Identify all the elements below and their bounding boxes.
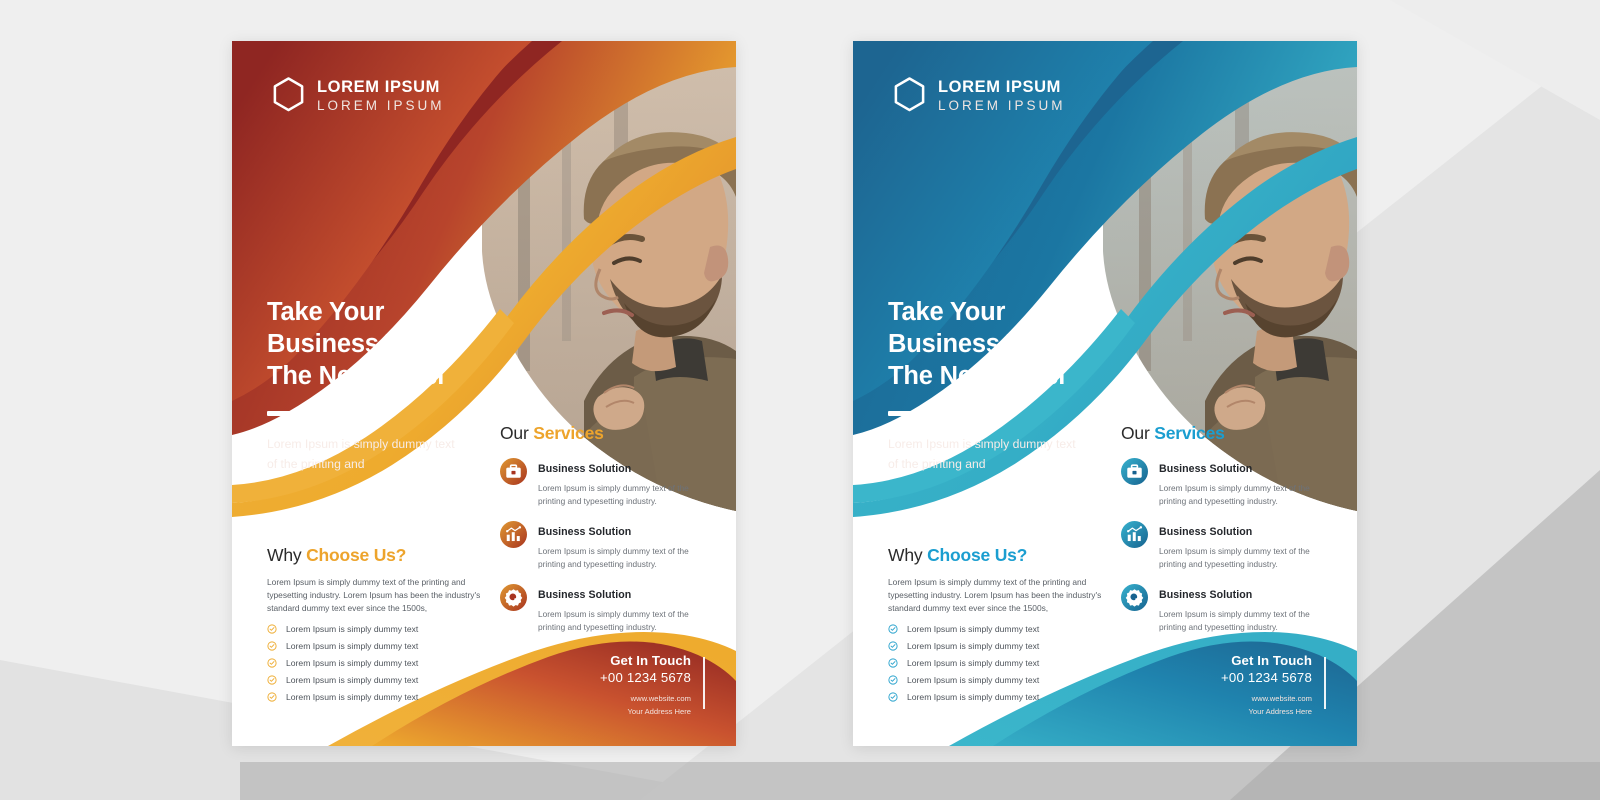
- bar-chart-icon: [1121, 521, 1148, 548]
- hero-subcopy: Lorem Ipsum is simply dummy text of the …: [267, 435, 463, 475]
- contact-divider-bar: [1324, 657, 1326, 709]
- service-heading: Business Solution: [1159, 463, 1252, 475]
- contact-heading: Get In Touch: [600, 653, 691, 668]
- logo-subtitle: LOREM IPSUM: [317, 99, 445, 113]
- service-heading: Business Solution: [1159, 526, 1252, 538]
- service-item[interactable]: Business Solution Lorem Ipsum is simply …: [1121, 458, 1327, 507]
- backdrop-band-bottom-strip: [240, 762, 1600, 800]
- why-title-plain: Why: [888, 545, 927, 565]
- gear-search-icon: [500, 584, 527, 611]
- service-heading: Business Solution: [538, 463, 631, 475]
- services-title-plain: Our: [500, 423, 533, 443]
- logo-title: LOREM IPSUM: [317, 79, 445, 96]
- contact-block: Get In Touch +00 1234 5678 www.website.c…: [600, 653, 705, 718]
- service-item[interactable]: Business Solution Lorem Ipsum is simply …: [500, 584, 706, 633]
- service-text: Lorem Ipsum is simply dummy text of the …: [538, 608, 706, 633]
- service-heading: Business Solution: [538, 589, 631, 601]
- brand-logo[interactable]: LOREM IPSUM LOREM IPSUM: [892, 76, 1066, 115]
- check-circle-icon: [267, 641, 277, 651]
- service-text: Lorem Ipsum is simply dummy text of the …: [1159, 608, 1327, 633]
- check-circle-icon: [267, 675, 277, 685]
- why-title: Why Choose Us?: [267, 545, 483, 566]
- why-bullet-text: Lorem Ipsum is simply dummy text: [907, 675, 1039, 685]
- headline-divider: [888, 411, 940, 416]
- check-circle-icon: [888, 692, 898, 702]
- services-title: Our Services: [1121, 423, 1327, 444]
- service-item[interactable]: Business Solution Lorem Ipsum is simply …: [1121, 521, 1327, 570]
- check-circle-icon: [888, 658, 898, 668]
- contact-address: Your Address Here: [600, 706, 691, 718]
- check-circle-icon: [267, 624, 277, 634]
- bar-chart-icon: [500, 521, 527, 548]
- hero-headline-block: Take Your Business To The Next Level Lor…: [888, 296, 1084, 475]
- why-bullet-list: Lorem Ipsum is simply dummy text Lorem I…: [888, 624, 1104, 702]
- why-bullet-text: Lorem Ipsum is simply dummy text: [286, 641, 418, 651]
- gear-search-icon: [1121, 584, 1148, 611]
- services-title-plain: Our: [1121, 423, 1154, 443]
- headline-line-3: The Next Level: [888, 362, 1065, 390]
- why-bullet-item: Lorem Ipsum is simply dummy text: [888, 692, 1104, 702]
- why-bullet-text: Lorem Ipsum is simply dummy text: [286, 658, 418, 668]
- service-text: Lorem Ipsum is simply dummy text of the …: [538, 545, 706, 570]
- why-bullet-list: Lorem Ipsum is simply dummy text Lorem I…: [267, 624, 483, 702]
- services-title-accent: Services: [533, 423, 603, 443]
- check-circle-icon: [888, 641, 898, 651]
- headline-line-3: The Next Level: [267, 362, 444, 390]
- briefcase-icon: [1121, 458, 1148, 485]
- hero-subcopy: Lorem Ipsum is simply dummy text of the …: [888, 435, 1084, 475]
- headline-line-1: Take Your: [888, 298, 1005, 326]
- why-bullet-text: Lorem Ipsum is simply dummy text: [286, 692, 418, 702]
- service-heading: Business Solution: [538, 526, 631, 538]
- why-bullet-item: Lorem Ipsum is simply dummy text: [888, 641, 1104, 651]
- why-bullet-item: Lorem Ipsum is simply dummy text: [267, 624, 483, 634]
- why-paragraph: Lorem Ipsum is simply dummy text of the …: [267, 576, 483, 615]
- hexagon-outline-icon: [892, 76, 927, 115]
- why-title-accent: Choose Us?: [927, 545, 1027, 565]
- why-title-plain: Why: [267, 545, 306, 565]
- why-title: Why Choose Us?: [888, 545, 1104, 566]
- check-circle-icon: [267, 692, 277, 702]
- why-bullet-item: Lorem Ipsum is simply dummy text: [267, 641, 483, 651]
- why-bullet-text: Lorem Ipsum is simply dummy text: [907, 658, 1039, 668]
- contact-website[interactable]: www.website.com: [1221, 693, 1312, 705]
- why-choose-section: Why Choose Us? Lorem Ipsum is simply dum…: [267, 545, 483, 709]
- services-section: Our Services Business Solution Lorem Ips…: [500, 423, 706, 648]
- services-list: Business Solution Lorem Ipsum is simply …: [1121, 458, 1327, 634]
- headline-line-2: Business To: [267, 330, 415, 358]
- why-title-accent: Choose Us?: [306, 545, 406, 565]
- headline-line-2: Business To: [888, 330, 1036, 358]
- flyer-orange[interactable]: LOREM IPSUM LOREM IPSUM Take Your Busine…: [232, 41, 736, 746]
- flyer-blue[interactable]: LOREM IPSUM LOREM IPSUM Take Your Busine…: [853, 41, 1357, 746]
- check-circle-icon: [267, 658, 277, 668]
- service-item[interactable]: Business Solution Lorem Ipsum is simply …: [1121, 584, 1327, 633]
- why-paragraph: Lorem Ipsum is simply dummy text of the …: [888, 576, 1104, 615]
- why-bullet-text: Lorem Ipsum is simply dummy text: [286, 675, 418, 685]
- why-bullet-text: Lorem Ipsum is simply dummy text: [907, 692, 1039, 702]
- brand-logo[interactable]: LOREM IPSUM LOREM IPSUM: [271, 76, 445, 115]
- services-title: Our Services: [500, 423, 706, 444]
- contact-block: Get In Touch +00 1234 5678 www.website.c…: [1221, 653, 1326, 718]
- service-item[interactable]: Business Solution Lorem Ipsum is simply …: [500, 458, 706, 507]
- logo-subtitle: LOREM IPSUM: [938, 99, 1066, 113]
- why-bullet-item: Lorem Ipsum is simply dummy text: [267, 692, 483, 702]
- services-section: Our Services Business Solution Lorem Ips…: [1121, 423, 1327, 648]
- service-heading: Business Solution: [1159, 589, 1252, 601]
- service-item[interactable]: Business Solution Lorem Ipsum is simply …: [500, 521, 706, 570]
- why-bullet-text: Lorem Ipsum is simply dummy text: [907, 624, 1039, 634]
- service-text: Lorem Ipsum is simply dummy text of the …: [1159, 545, 1327, 570]
- contact-heading: Get In Touch: [1221, 653, 1312, 668]
- check-circle-icon: [888, 675, 898, 685]
- why-bullet-text: Lorem Ipsum is simply dummy text: [907, 641, 1039, 651]
- contact-divider-bar: [703, 657, 705, 709]
- headline-divider: [267, 411, 319, 416]
- hero-headline-block: Take Your Business To The Next Level Lor…: [267, 296, 463, 475]
- hero-headline: Take Your Business To The Next Level: [888, 296, 1084, 392]
- hero-headline: Take Your Business To The Next Level: [267, 296, 463, 392]
- why-bullet-item: Lorem Ipsum is simply dummy text: [888, 624, 1104, 634]
- headline-line-1: Take Your: [267, 298, 384, 326]
- logo-title: LOREM IPSUM: [938, 79, 1066, 96]
- service-text: Lorem Ipsum is simply dummy text of the …: [1159, 482, 1327, 507]
- contact-phone[interactable]: +00 1234 5678: [1221, 670, 1312, 685]
- contact-phone[interactable]: +00 1234 5678: [600, 670, 691, 685]
- why-bullet-item: Lorem Ipsum is simply dummy text: [267, 658, 483, 668]
- contact-address: Your Address Here: [1221, 706, 1312, 718]
- why-bullet-item: Lorem Ipsum is simply dummy text: [888, 658, 1104, 668]
- services-title-accent: Services: [1154, 423, 1224, 443]
- services-list: Business Solution Lorem Ipsum is simply …: [500, 458, 706, 634]
- why-bullet-text: Lorem Ipsum is simply dummy text: [286, 624, 418, 634]
- service-text: Lorem Ipsum is simply dummy text of the …: [538, 482, 706, 507]
- why-bullet-item: Lorem Ipsum is simply dummy text: [267, 675, 483, 685]
- contact-website[interactable]: www.website.com: [600, 693, 691, 705]
- check-circle-icon: [888, 624, 898, 634]
- why-choose-section: Why Choose Us? Lorem Ipsum is simply dum…: [888, 545, 1104, 709]
- why-bullet-item: Lorem Ipsum is simply dummy text: [888, 675, 1104, 685]
- briefcase-icon: [500, 458, 527, 485]
- hexagon-outline-icon: [271, 76, 306, 115]
